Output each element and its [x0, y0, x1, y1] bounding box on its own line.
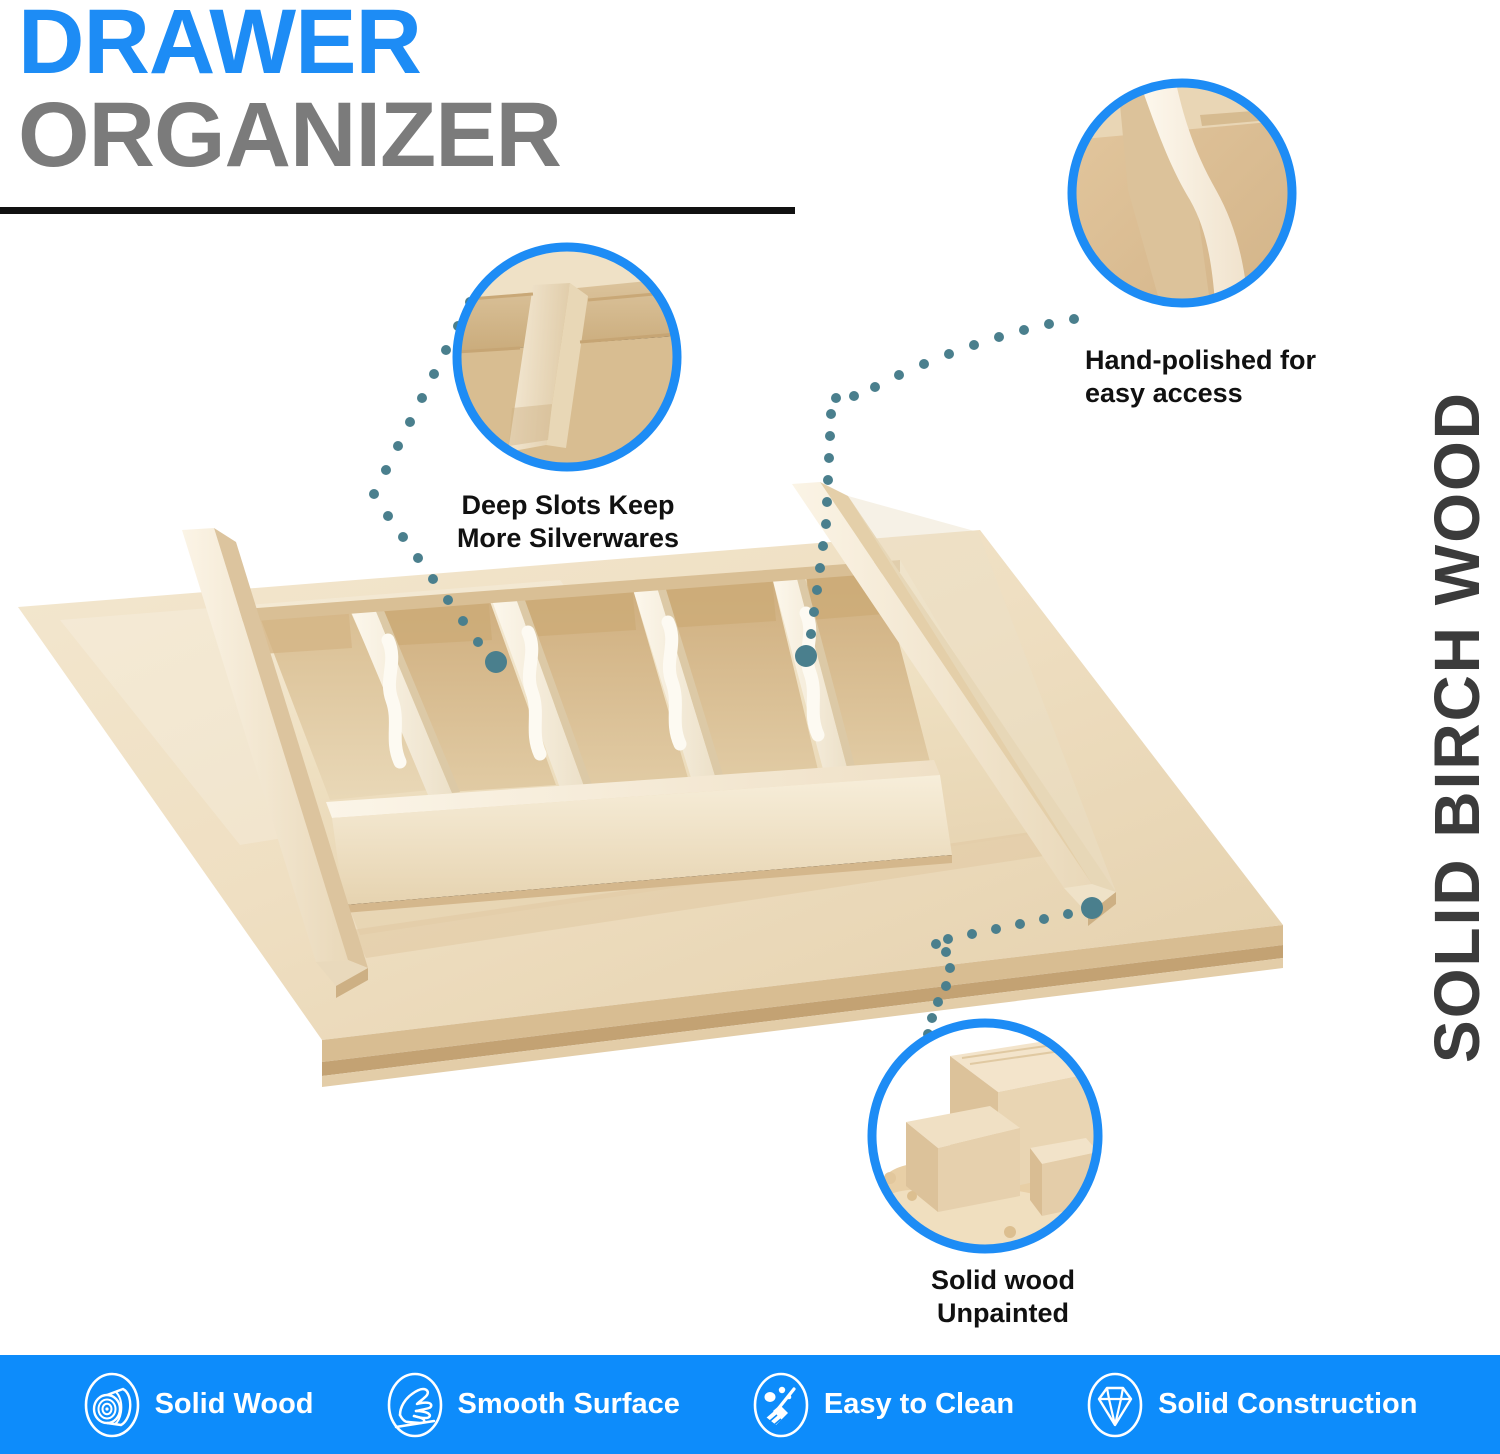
- diamond-icon: [1086, 1371, 1144, 1439]
- callout-circle-deep-slots: [457, 247, 677, 467]
- callout-circle-hand-polished: [1072, 83, 1292, 303]
- feature-item-smooth-surface: Smooth Surface: [386, 1371, 680, 1439]
- callout-label-hand-polished: Hand-polished for easy access: [1085, 344, 1345, 410]
- callout-label-solid-wood-unpainted: Solid wood Unpainted: [878, 1264, 1128, 1330]
- broom-sparkle-icon: [752, 1371, 810, 1439]
- feature-item-solid-wood: Solid Wood: [83, 1371, 314, 1439]
- feature-label-easy-to-clean: Easy to Clean: [824, 1388, 1014, 1421]
- product-scene-svg: [0, 0, 1500, 1360]
- feature-item-easy-to-clean: Easy to Clean: [752, 1371, 1014, 1439]
- wood-log-icon: [83, 1371, 141, 1439]
- callout-label-deep-slots: Deep Slots Keep More Silverwares: [448, 489, 688, 555]
- feature-label-smooth-surface: Smooth Surface: [458, 1388, 680, 1421]
- product-illustration-stage: Deep Slots Keep More Silverwares Hand-po…: [0, 0, 1500, 1360]
- hand-smooth-surface-icon: [386, 1371, 444, 1439]
- feature-label-solid-wood: Solid Wood: [155, 1388, 314, 1421]
- callout-circle-solid-wood: [872, 1023, 1098, 1249]
- feature-highlight-bar: Solid Wood Smooth Surface Easy to Clean: [0, 1355, 1500, 1454]
- feature-item-solid-construction: Solid Construction: [1086, 1371, 1417, 1439]
- feature-label-solid-construction: Solid Construction: [1158, 1388, 1417, 1421]
